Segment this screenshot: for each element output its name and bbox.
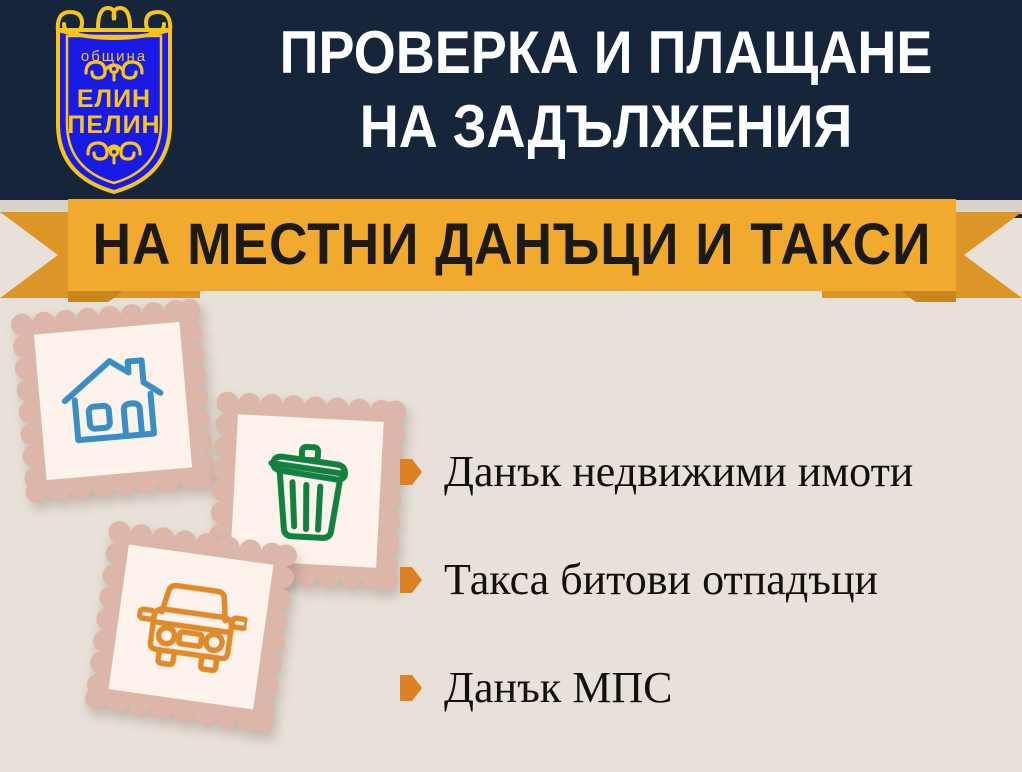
tax-types-list: Данък недвижими имоти Такса битови отпад… — [400, 418, 1010, 742]
logo-line-main-1: ЕЛИН — [38, 85, 190, 114]
title-line-1: ПРОВЕРКА И ПЛАЩАНЕ — [237, 16, 975, 90]
title-line-2: НА ЗАДЪЛЖЕНИЯ — [237, 90, 975, 164]
car-front-icon — [130, 575, 251, 679]
trash-bin-icon — [255, 439, 358, 544]
list-item-label: Данък недвижими имоти — [444, 448, 913, 496]
logo-line-top: община — [38, 48, 190, 65]
house-icon — [57, 349, 169, 454]
municipality-logo: община ЕЛИН ПЕЛИН — [38, 6, 190, 196]
list-item[interactable]: Данък недвижими имоти — [400, 418, 1010, 526]
arrow-pentagon-bullet-icon — [400, 459, 422, 485]
arrow-pentagon-bullet-icon — [400, 567, 422, 593]
poster-title: ПРОВЕРКА И ПЛАЩАНЕ НА ЗАДЪЛЖЕНИЯ — [196, 16, 1016, 164]
arrow-pentagon-bullet-icon — [400, 675, 422, 701]
logo-line-main-2: ПЕЛИН — [38, 111, 190, 140]
stamp-card-inner — [109, 545, 274, 710]
poster-canvas: община ЕЛИН ПЕЛИН ПРОВЕРКА И ПЛАЩАНЕ НА … — [0, 0, 1022, 772]
stamp-card-inner — [34, 322, 192, 480]
ribbon-text: НА МЕСТНИ ДАНЪЦИ И ТАКСИ — [93, 216, 932, 274]
stamp-card-house — [10, 298, 216, 504]
list-item[interactable]: Такса битови отпадъци — [400, 526, 1010, 634]
list-item-label: Данък МПС — [444, 664, 672, 712]
stamp-card-vehicle — [84, 520, 299, 735]
list-item[interactable]: Данък МПС — [400, 634, 1010, 742]
list-item-label: Такса битови отпадъци — [444, 556, 878, 604]
ribbon-banner: НА МЕСТНИ ДАНЪЦИ И ТАКСИ — [68, 199, 956, 291]
